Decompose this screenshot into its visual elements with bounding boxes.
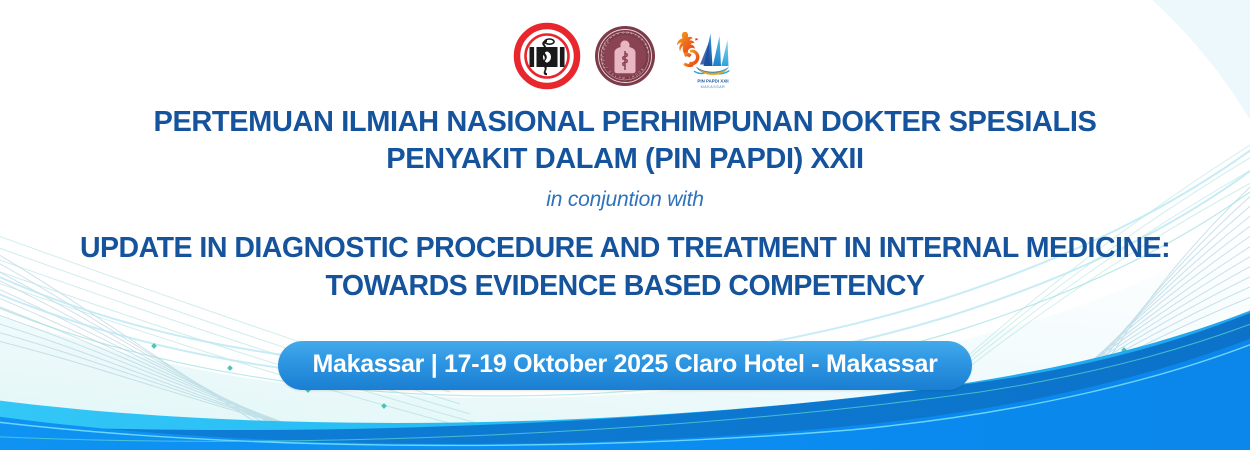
- date-venue-badge: Makassar | 17-19 Oktober 2025 Claro Hote…: [278, 341, 971, 390]
- main-title-line-1: PERTEMUAN ILMIAH NASIONAL PERHIMPUNAN DO…: [154, 106, 1097, 138]
- svg-text:A: A: [601, 56, 605, 58]
- main-title-line-2: PENYAKIT DALAM (PIN PAPDI) XXII: [0, 141, 1250, 178]
- conjunction-text: in conjuntion with: [0, 188, 1250, 212]
- main-title: PERTEMUAN ILMIAH NASIONAL PERHIMPUNAN DO…: [0, 104, 1250, 178]
- event-banner: P E R H I M P U N A N D O: [0, 0, 1250, 450]
- sub-title: UPDATE IN DIAGNOSTIC PROCEDURE AND TREAT…: [0, 230, 1250, 306]
- svg-text:O: O: [626, 30, 629, 34]
- svg-text:D: D: [622, 30, 624, 34]
- date-venue-badge-wrap: Makassar | 17-19 Oktober 2025 Claro Hote…: [0, 341, 1250, 390]
- papdi-logo: P E R H I M P U N A N D O: [589, 20, 661, 92]
- pin-papdi-makassar-logo: PIN PAPDI XXII MAKASSAR: [667, 20, 739, 92]
- pin-papdi-logo-caption-line2: MAKASSAR: [701, 85, 726, 89]
- idi-logo: [511, 20, 583, 92]
- sub-title-line-1: UPDATE IN DIAGNOSTIC PROCEDURE AND TREAT…: [80, 232, 1170, 264]
- pin-papdi-logo-caption-line1: PIN PAPDI XXII: [697, 79, 728, 84]
- sub-title-line-2: TOWARDS EVIDENCE BASED COMPETENCY: [0, 268, 1250, 306]
- logo-row: P E R H I M P U N A N D O: [0, 20, 1250, 92]
